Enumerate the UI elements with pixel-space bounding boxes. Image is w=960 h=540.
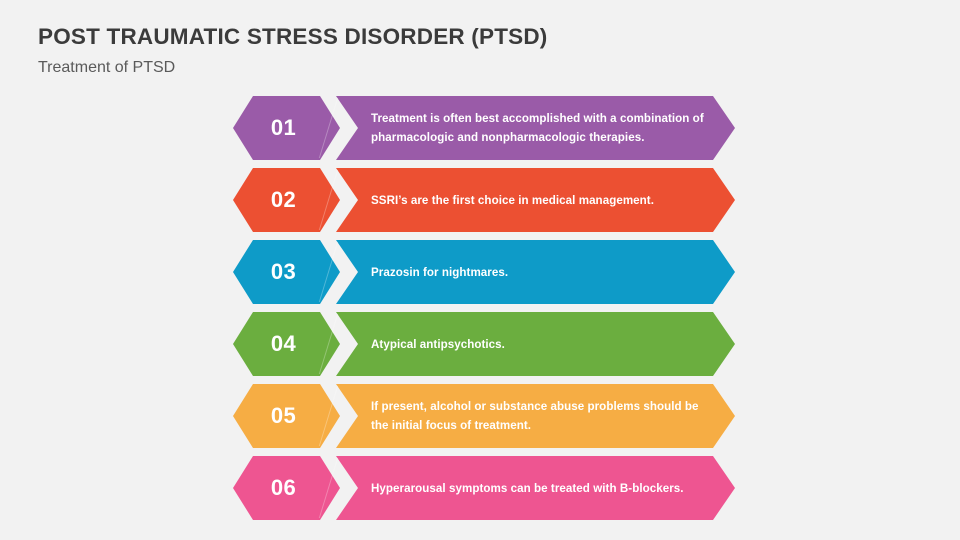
item-banner[interactable]: Treatment is often best accomplished wit… — [336, 96, 735, 160]
item-description: If present, alcohol or substance abuse p… — [336, 397, 735, 435]
list-item[interactable]: If present, alcohol or substance abuse p… — [0, 384, 960, 448]
item-number: 03 — [271, 259, 296, 285]
item-description: Prazosin for nightmares. — [336, 263, 534, 282]
item-banner[interactable]: If present, alcohol or substance abuse p… — [336, 384, 735, 448]
item-number-badge[interactable]: 06 — [233, 456, 340, 520]
list-item[interactable]: Treatment is often best accomplished wit… — [0, 96, 960, 160]
item-description: Atypical antipsychotics. — [336, 335, 531, 354]
item-number: 04 — [271, 331, 296, 357]
slide-canvas: POST TRAUMATIC STRESS DISORDER (PTSD) Tr… — [0, 0, 960, 540]
item-banner[interactable]: Hyperarousal symptoms can be treated wit… — [336, 456, 735, 520]
list-item[interactable]: Atypical antipsychotics. 04 — [0, 312, 960, 376]
item-description: Hyperarousal symptoms can be treated wit… — [336, 479, 710, 498]
page-title: POST TRAUMATIC STRESS DISORDER (PTSD) — [38, 22, 918, 52]
item-number: 01 — [271, 115, 296, 141]
item-number-badge[interactable]: 04 — [233, 312, 340, 376]
slide-header: POST TRAUMATIC STRESS DISORDER (PTSD) Tr… — [38, 22, 918, 79]
item-banner[interactable]: Atypical antipsychotics. — [336, 312, 735, 376]
item-number: 02 — [271, 187, 296, 213]
item-number: 06 — [271, 475, 296, 501]
item-banner[interactable]: SSRI’s are the first choice in medical m… — [336, 168, 735, 232]
process-list: Treatment is often best accomplished wit… — [0, 96, 960, 528]
list-item[interactable]: Prazosin for nightmares. 03 — [0, 240, 960, 304]
list-item[interactable]: SSRI’s are the first choice in medical m… — [0, 168, 960, 232]
item-number-badge[interactable]: 03 — [233, 240, 340, 304]
item-number-badge[interactable]: 02 — [233, 168, 340, 232]
item-number-badge[interactable]: 01 — [233, 96, 340, 160]
list-item[interactable]: Hyperarousal symptoms can be treated wit… — [0, 456, 960, 520]
item-description: SSRI’s are the first choice in medical m… — [336, 191, 680, 210]
page-subtitle: Treatment of PTSD — [38, 57, 918, 79]
item-number: 05 — [271, 403, 296, 429]
item-description: Treatment is often best accomplished wit… — [336, 109, 735, 147]
item-number-badge[interactable]: 05 — [233, 384, 340, 448]
item-banner[interactable]: Prazosin for nightmares. — [336, 240, 735, 304]
